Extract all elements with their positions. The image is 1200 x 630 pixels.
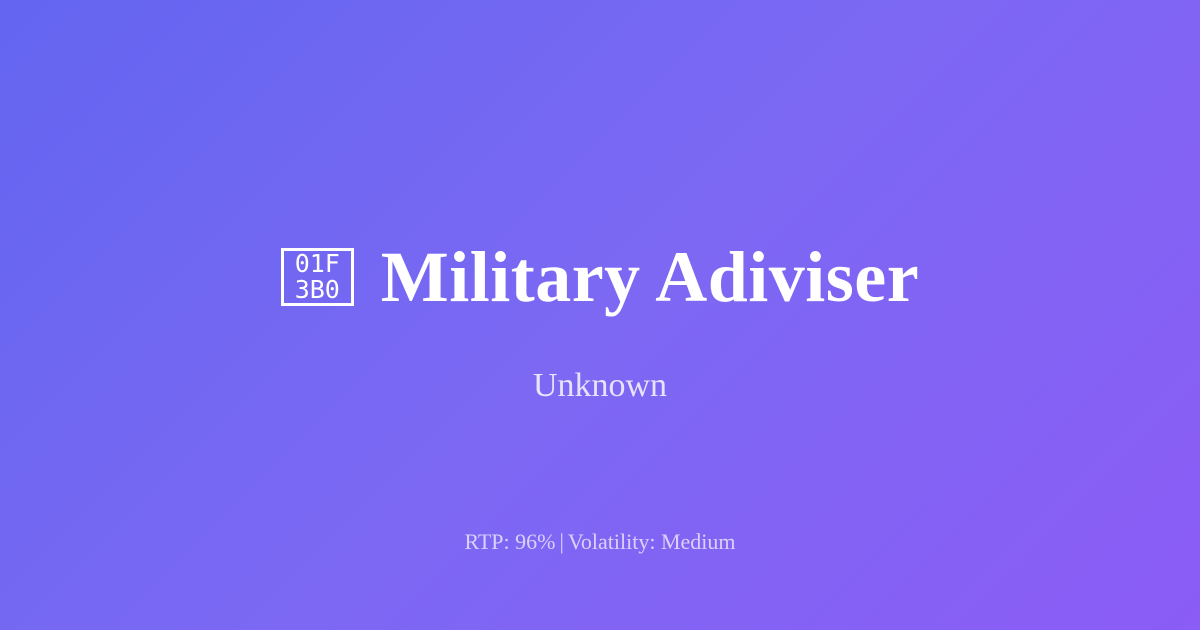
tofu-codepoint-bottom: 3B0 [295, 277, 340, 303]
page-title: Military Adiviser [381, 241, 919, 313]
meta-separator: | [555, 529, 567, 554]
og-preview-card: 01F 3B0 Military Adiviser Unknown RTP: 9… [0, 0, 1200, 630]
card-meta: RTP: 96%|Volatility: Medium [0, 528, 1200, 557]
rtp-value: RTP: 96% [464, 529, 555, 554]
tofu-codepoint-top: 01F [295, 251, 340, 277]
volatility-value: Volatility: Medium [568, 529, 736, 554]
card-subtitle: Unknown [0, 366, 1200, 407]
slot-machine-emoji-icon: 01F 3B0 [281, 248, 354, 306]
title-row: 01F 3B0 Military Adiviser [0, 231, 1200, 323]
